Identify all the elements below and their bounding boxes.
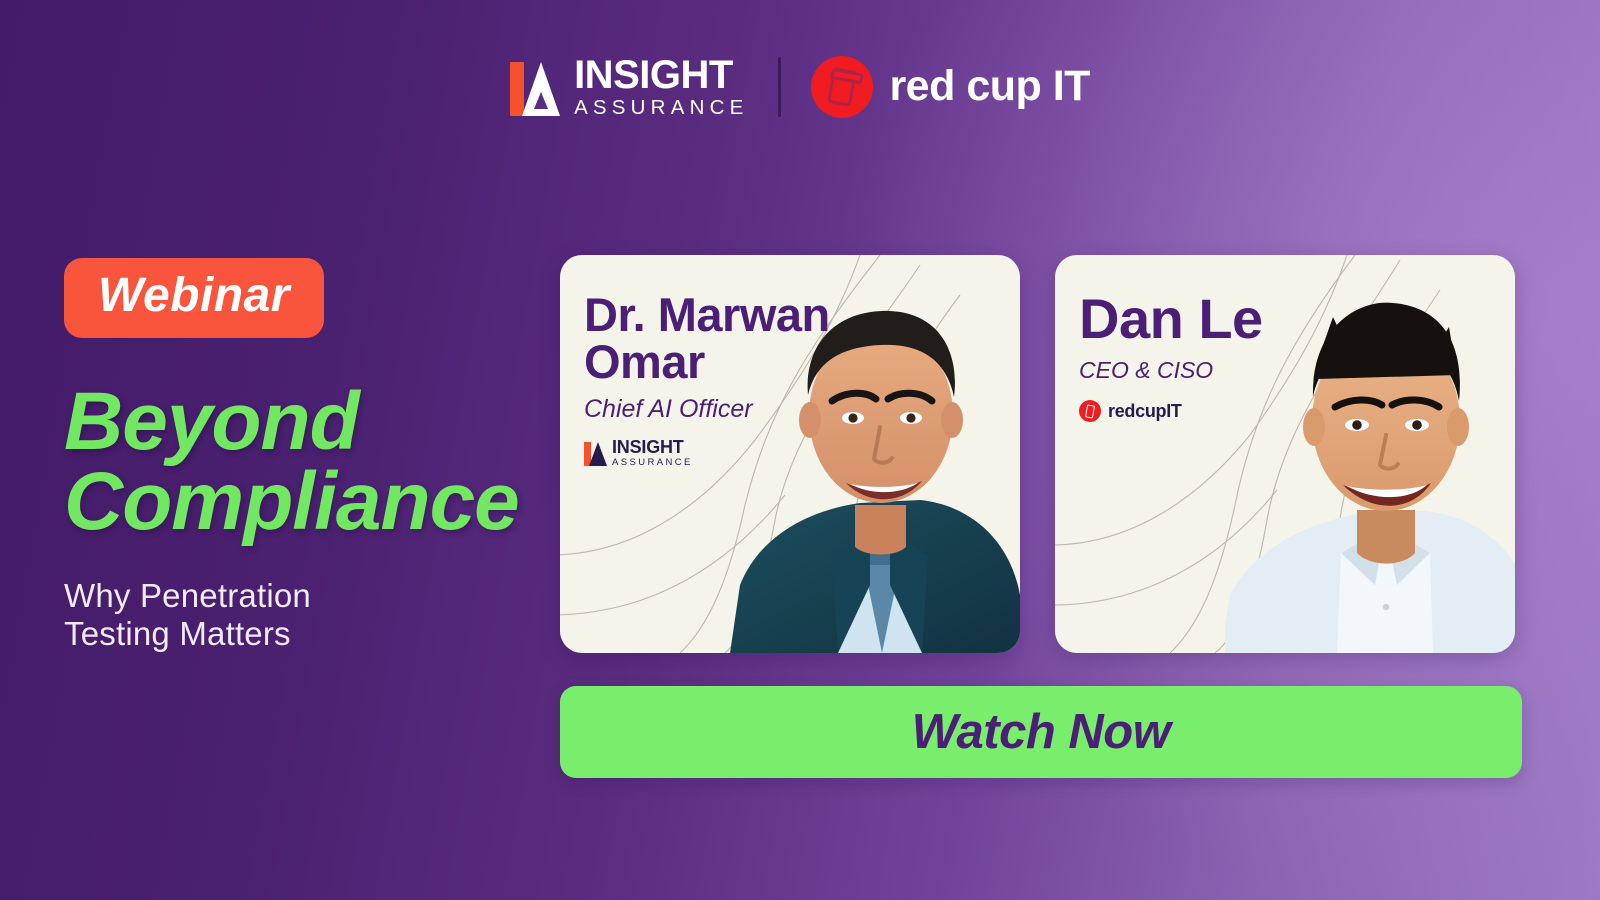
speaker-info: Dr. Marwan Omar Chief AI Officer INSIGHT… [560, 255, 1020, 468]
speaker-org-logo: redcupIT [1079, 400, 1515, 422]
speaker-card-list: Dr. Marwan Omar Chief AI Officer INSIGHT… [560, 255, 1515, 653]
speaker-org-line2: ASSURANCE [612, 458, 693, 468]
redcupit-wordmark: red cup IT [889, 62, 1089, 111]
page-title: Beyond Compliance [64, 382, 534, 543]
insight-assurance-name-line1: INSIGHT [574, 55, 748, 95]
webinar-promo-banner: INSIGHT ASSURANCE red cup IT Webinar Bey… [0, 0, 1600, 900]
redcup-cup-icon [1079, 400, 1101, 422]
insight-assurance-mark-icon [584, 440, 606, 466]
redcupit-logo: red cup IT [811, 56, 1089, 118]
redcup-cup-icon [811, 56, 873, 118]
subtitle-line-1: Why Penetration [64, 577, 534, 615]
header-logo-row: INSIGHT ASSURANCE red cup IT [0, 55, 1600, 119]
speaker-card: Dan Le CEO & CISO redcupIT [1055, 255, 1515, 653]
speaker-name: Dr. Marwan Omar [584, 291, 844, 385]
logo-divider [778, 57, 781, 117]
headline-line-2: Compliance [64, 462, 534, 542]
speaker-org-logo: INSIGHT ASSURANCE [584, 438, 1020, 468]
insight-assurance-mark-icon [510, 58, 560, 116]
headline-line-1: Beyond [64, 376, 359, 467]
insight-assurance-logo: INSIGHT ASSURANCE [510, 55, 748, 119]
speaker-info: Dan Le CEO & CISO redcupIT [1055, 255, 1515, 422]
insight-assurance-name-line2: ASSURANCE [574, 98, 748, 119]
speaker-role: Chief AI Officer [584, 395, 1020, 424]
speaker-org-name: redcupIT [1108, 401, 1182, 422]
speaker-card: Dr. Marwan Omar Chief AI Officer INSIGHT… [560, 255, 1020, 653]
subtitle-line-2: Testing Matters [64, 615, 534, 653]
watch-now-label: Watch Now [912, 704, 1171, 760]
page-subtitle: Why Penetration Testing Matters [64, 577, 534, 654]
webinar-badge: Webinar [64, 258, 324, 338]
watch-now-button[interactable]: Watch Now [560, 686, 1522, 778]
speaker-org-line1: INSIGHT [612, 438, 693, 456]
speaker-name: Dan Le [1079, 291, 1515, 347]
left-content-column: Webinar Beyond Compliance Why Penetratio… [64, 258, 534, 653]
speaker-role: CEO & CISO [1079, 357, 1515, 384]
insight-assurance-wordmark: INSIGHT ASSURANCE [612, 438, 693, 468]
insight-assurance-wordmark: INSIGHT ASSURANCE [574, 55, 748, 119]
